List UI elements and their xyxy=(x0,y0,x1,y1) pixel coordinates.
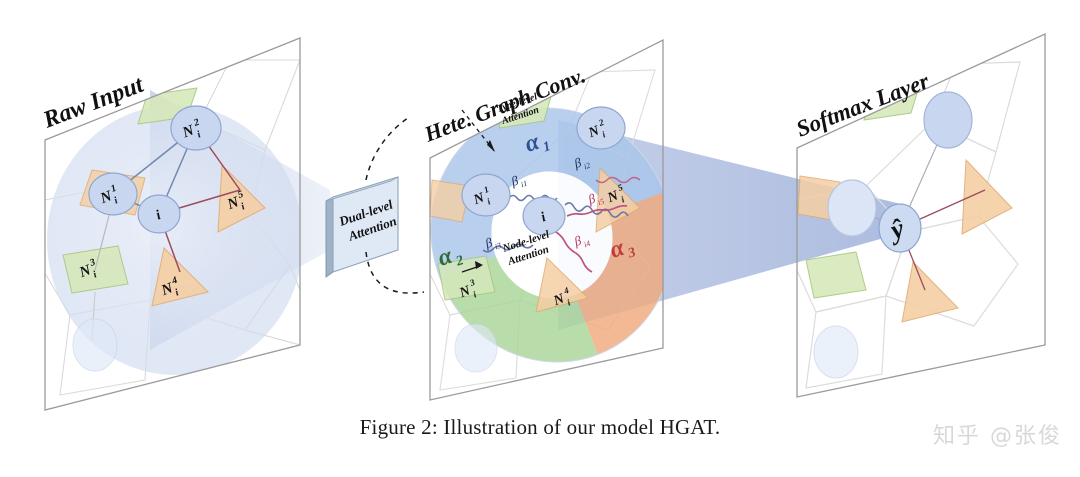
shape-orange-b-3 xyxy=(902,262,958,322)
dual-level-attention-box[interactable]: Dual-level Attention xyxy=(326,118,424,293)
hgat-diagram: N 1 i i N 2 i N 3 i N 4 i xyxy=(0,0,1080,477)
shape-green-bl-3 xyxy=(806,252,866,298)
figure-container: N 1 i i N 2 i N 3 i N 4 i xyxy=(0,0,1080,477)
panel-softmax-layer: ŷ Softmax Layer xyxy=(793,34,1045,397)
attention-box-side xyxy=(326,197,333,277)
node-N1-2 xyxy=(462,174,510,216)
node-plain-3a xyxy=(828,180,876,236)
panel-raw-input: N 1 i i N 2 i N 3 i N 4 i xyxy=(39,38,303,410)
node-faded-bl xyxy=(73,319,117,371)
watermark: 知乎 @张俊 xyxy=(933,418,1062,450)
node-N2-2 xyxy=(577,107,625,149)
dashed-arrow-top xyxy=(366,118,408,180)
node-faded-bl-2 xyxy=(455,324,497,372)
panel-hete-graph-conv: N 1 i i N 2 i N 3 i N 4 i xyxy=(394,40,710,400)
node-plain-3b xyxy=(924,92,972,148)
node-faded-3c xyxy=(814,326,858,378)
